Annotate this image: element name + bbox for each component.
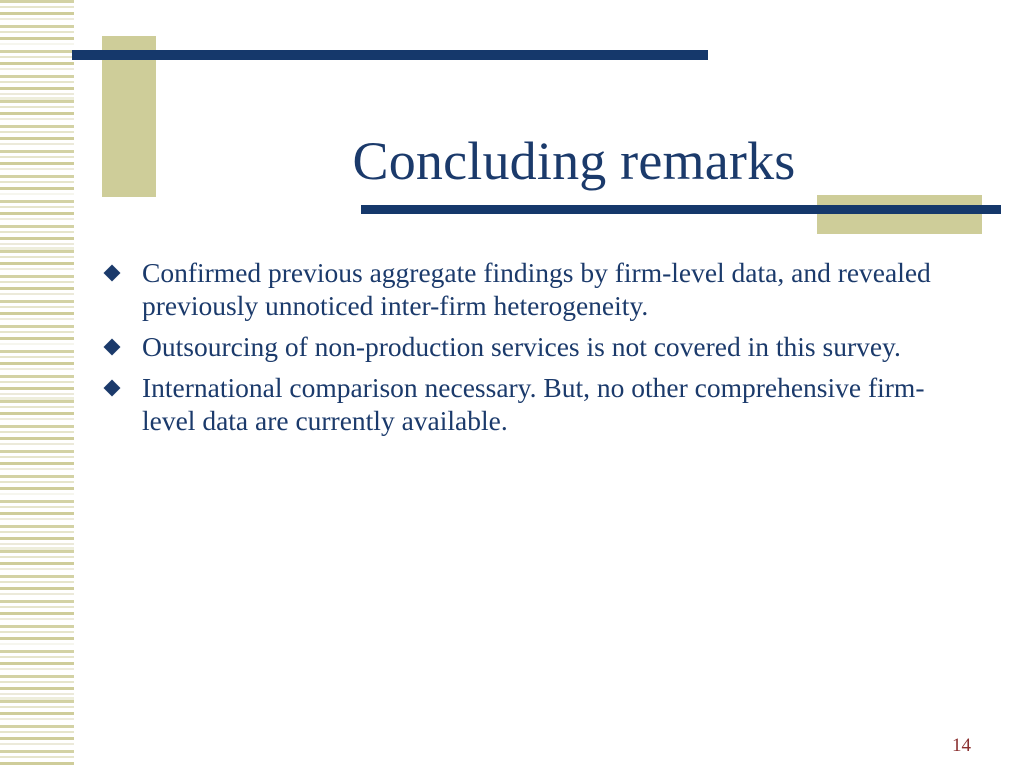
khaki-vertical-bar-decoration [102,36,156,197]
slide-canvas: Concluding remarks Confirmed previous ag… [0,0,1024,768]
list-item-text: Outsourcing of non-production services i… [142,330,912,363]
left-striped-border-decoration [0,0,74,768]
navy-horizontal-rule-top [72,50,708,60]
list-item: Confirmed previous aggregate findings by… [104,256,964,322]
diamond-bullet-icon [104,339,121,356]
diamond-bullet-icon [104,380,121,397]
navy-horizontal-rule-bottom [361,205,1001,214]
page-number: 14 [952,735,971,757]
list-item: Outsourcing of non-production services i… [104,330,964,363]
list-item-text: International comparison necessary. But,… [142,371,962,437]
list-item-text: Confirmed previous aggregate findings by… [142,256,942,322]
khaki-block-decoration-right [817,195,982,234]
bullet-list: Confirmed previous aggregate findings by… [104,256,964,437]
page-title: Concluding remarks [156,132,992,190]
list-item: International comparison necessary. But,… [104,371,964,437]
stripe-overlay-decoration [0,0,74,768]
diamond-bullet-icon [104,265,121,282]
